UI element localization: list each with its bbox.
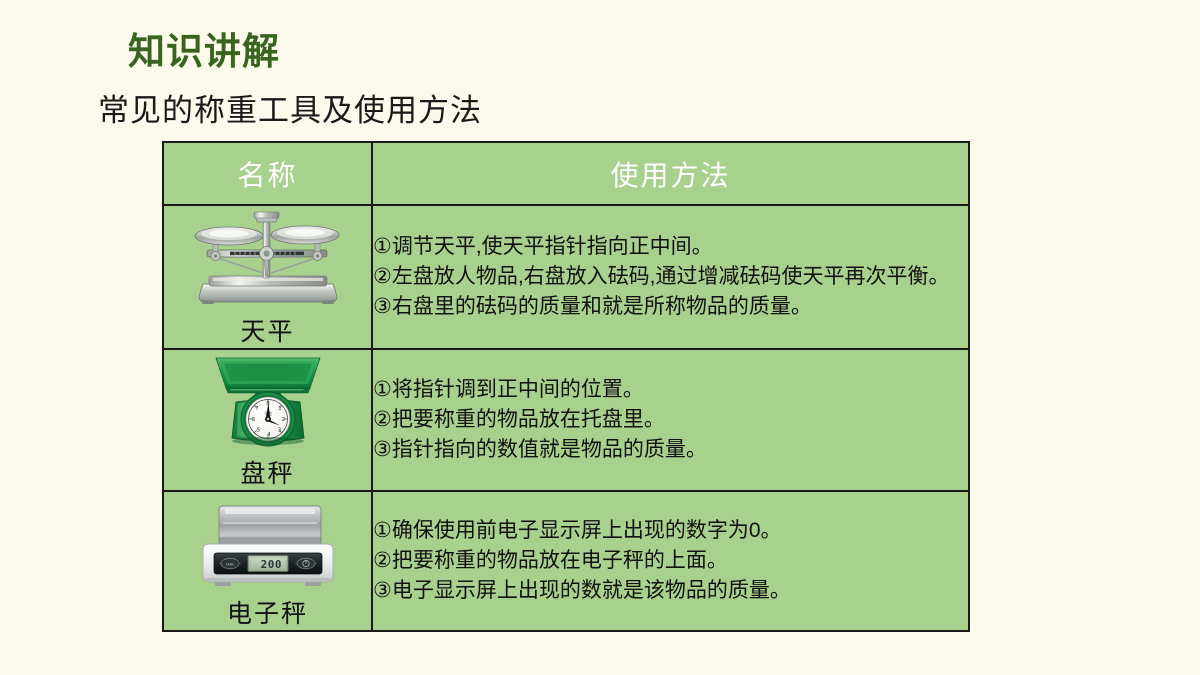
- tool-caption: 电子秤: [227, 594, 308, 630]
- column-header-usage: 使用方法: [372, 142, 969, 205]
- usage-step: ①确保使用前电子显示屏上出现的数字为0。: [373, 516, 968, 546]
- digital-scale-display: 200: [260, 558, 281, 571]
- digital-scale-icon: TARE 200: [193, 500, 343, 592]
- svg-text:7: 7: [255, 406, 258, 412]
- tool-caption: 盘秤: [240, 454, 294, 490]
- usage-step: ②左盘放人物品,右盘放入砝码,通过增减砝码使天平再次平衡。: [373, 262, 968, 292]
- usage-step: ①调节天平,使天平指针指向正中间。: [373, 232, 968, 262]
- tool-name-cell-pan: 1 2 3 4 5 6 7 8 千克: [163, 349, 372, 491]
- svg-text:5: 5: [256, 428, 259, 434]
- usage-step: ③指针指向的数值就是物品的质量。: [373, 435, 968, 465]
- table-row: TARE 200: [163, 491, 969, 631]
- svg-text:1: 1: [278, 406, 281, 412]
- svg-text:3: 3: [277, 428, 280, 434]
- svg-text:TARE: TARE: [224, 562, 235, 566]
- table-header-row: 名称 使用方法: [163, 142, 969, 205]
- usage-step: ③电子显示屏上出现的数就是该物品的质量。: [373, 576, 968, 606]
- balance-scale-icon: [185, 210, 351, 310]
- table-row: 1 2 3 4 5 6 7 8 千克: [163, 349, 969, 491]
- weighing-tools-table: 名称 使用方法: [162, 141, 970, 632]
- tool-caption: 天平: [240, 312, 294, 348]
- tool-usage-cell-pan: ①将指针调到正中间的位置。 ②把要称重的物品放在托盘里。 ③指针指向的数值就是物…: [372, 349, 969, 491]
- svg-text:4: 4: [267, 432, 271, 438]
- page-title: 知识讲解: [128, 32, 280, 73]
- usage-step: ②把要称重的物品放在电子秤的上面。: [373, 546, 968, 576]
- tool-usage-cell-balance: ①调节天平,使天平指针指向正中间。 ②左盘放人物品,右盘放入砝码,通过增减砝码使…: [372, 205, 969, 349]
- page-subtitle: 常见的称重工具及使用方法: [98, 94, 482, 128]
- usage-step: ①将指针调到正中间的位置。: [373, 375, 968, 405]
- tool-name-cell-digital: TARE 200: [163, 491, 372, 631]
- svg-text:6: 6: [251, 417, 255, 423]
- usage-step: ③右盘里的砝码的质量和就是所称物品的质量。: [373, 292, 968, 322]
- pan-scale-icon: 1 2 3 4 5 6 7 8 千克: [198, 354, 338, 452]
- svg-text:2: 2: [281, 417, 284, 423]
- column-header-name: 名称: [163, 142, 372, 205]
- usage-step: ②把要称重的物品放在托盘里。: [373, 405, 968, 435]
- tool-usage-cell-digital: ①确保使用前电子显示屏上出现的数字为0。 ②把要称重的物品放在电子秤的上面。 ③…: [372, 491, 969, 631]
- tool-name-cell-balance: 天平: [163, 205, 372, 349]
- table-row: 天平 ①调节天平,使天平指针指向正中间。 ②左盘放人物品,右盘放入砝码,通过增减…: [163, 205, 969, 349]
